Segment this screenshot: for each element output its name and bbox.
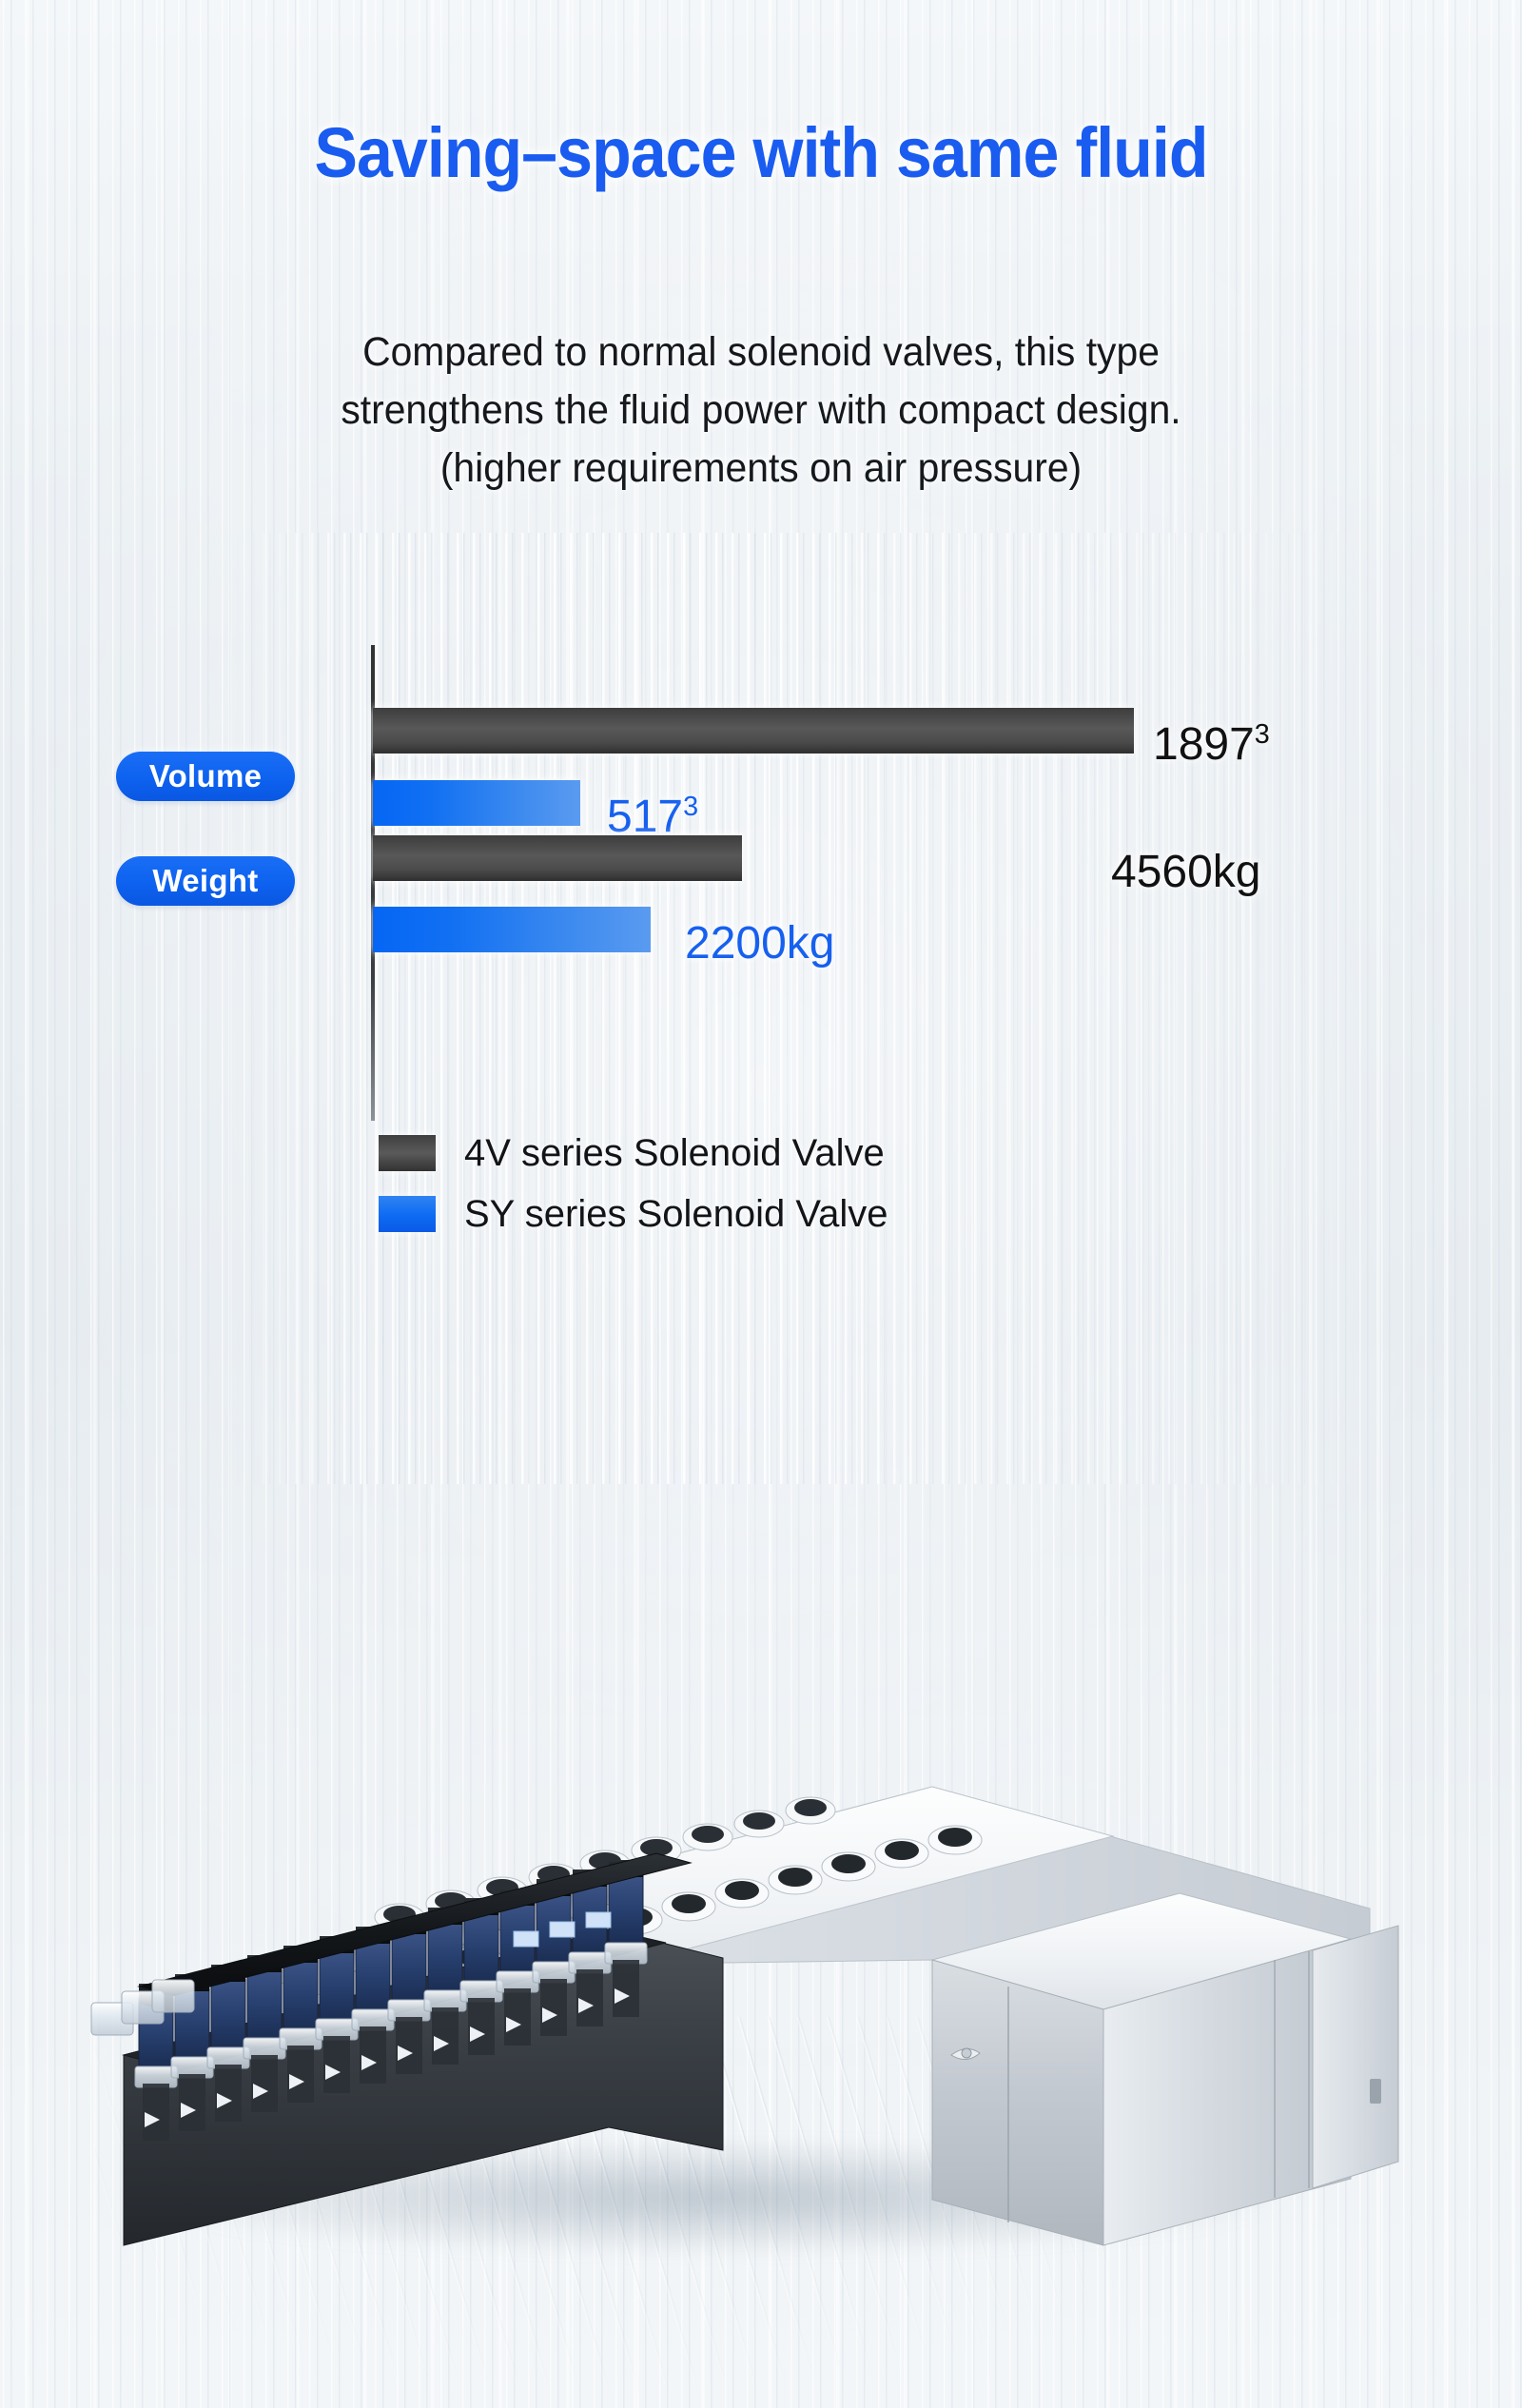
legend-label-4v: 4V series Solenoid Valve bbox=[464, 1132, 885, 1175]
bar-value-volume-4v-sup: 3 bbox=[1255, 719, 1270, 750]
bar-value-volume-4v-number: 1897 bbox=[1153, 719, 1255, 770]
bar-value-weight-sy-number: 2200kg bbox=[685, 918, 834, 969]
bar-volume-sy bbox=[373, 780, 580, 826]
bar-value-weight-4v: 4560kg bbox=[1111, 839, 1260, 895]
bar-weight-sy bbox=[373, 907, 651, 952]
legend-label-sy: SY series Solenoid Valve bbox=[464, 1193, 888, 1236]
page-title: Saving–space with same fluid bbox=[61, 112, 1461, 193]
legend-swatch-sy-icon bbox=[379, 1196, 436, 1232]
bar-value-weight-sy: 2200kg bbox=[685, 910, 834, 967]
infographic-page: Saving–space with same fluid Compared to… bbox=[0, 0, 1522, 2408]
category-pill-weight-label: Weight bbox=[152, 863, 258, 899]
solenoid-valve-manifold-illustration: SY5120-5LZD-01 0.15-0.7MPa S.P. bbox=[0, 1484, 1522, 2321]
subtitle-line-1: Compared to normal solenoid valves, this… bbox=[38, 323, 1484, 382]
bar-value-weight-4v-number: 4560kg bbox=[1111, 847, 1260, 897]
subtitle-line-3: (higher requirements on air pressure) bbox=[38, 440, 1484, 498]
bar-value-volume-sy-sup: 3 bbox=[683, 792, 698, 822]
legend-item-4v: 4V series Solenoid Valve bbox=[379, 1130, 888, 1176]
subtitle: Compared to normal solenoid valves, this… bbox=[38, 323, 1484, 498]
bar-value-volume-sy: 5173 bbox=[607, 784, 698, 840]
bar-weight-4v bbox=[373, 835, 742, 881]
subtitle-line-2: strengthens the fluid power with compact… bbox=[38, 382, 1484, 440]
header: Saving–space with same fluid bbox=[0, 112, 1522, 193]
category-pill-weight: Weight bbox=[116, 856, 295, 906]
bar-volume-4v bbox=[373, 708, 1134, 754]
category-pill-volume-label: Volume bbox=[149, 758, 263, 794]
legend-swatch-4v-icon bbox=[379, 1135, 436, 1171]
end-block-with-label: SY5120-5LZD-01 0.15-0.7MPa S.P. bbox=[932, 1893, 1398, 2321]
chart-legend: 4V series Solenoid Valve SY series Solen… bbox=[379, 1130, 888, 1252]
bar-value-volume-4v: 18973 bbox=[1153, 712, 1270, 768]
legend-item-sy: SY series Solenoid Valve bbox=[379, 1191, 888, 1237]
product-photo: SY5120-5LZD-01 0.15-0.7MPa S.P. bbox=[0, 1484, 1522, 2321]
category-pill-volume: Volume bbox=[116, 752, 295, 801]
